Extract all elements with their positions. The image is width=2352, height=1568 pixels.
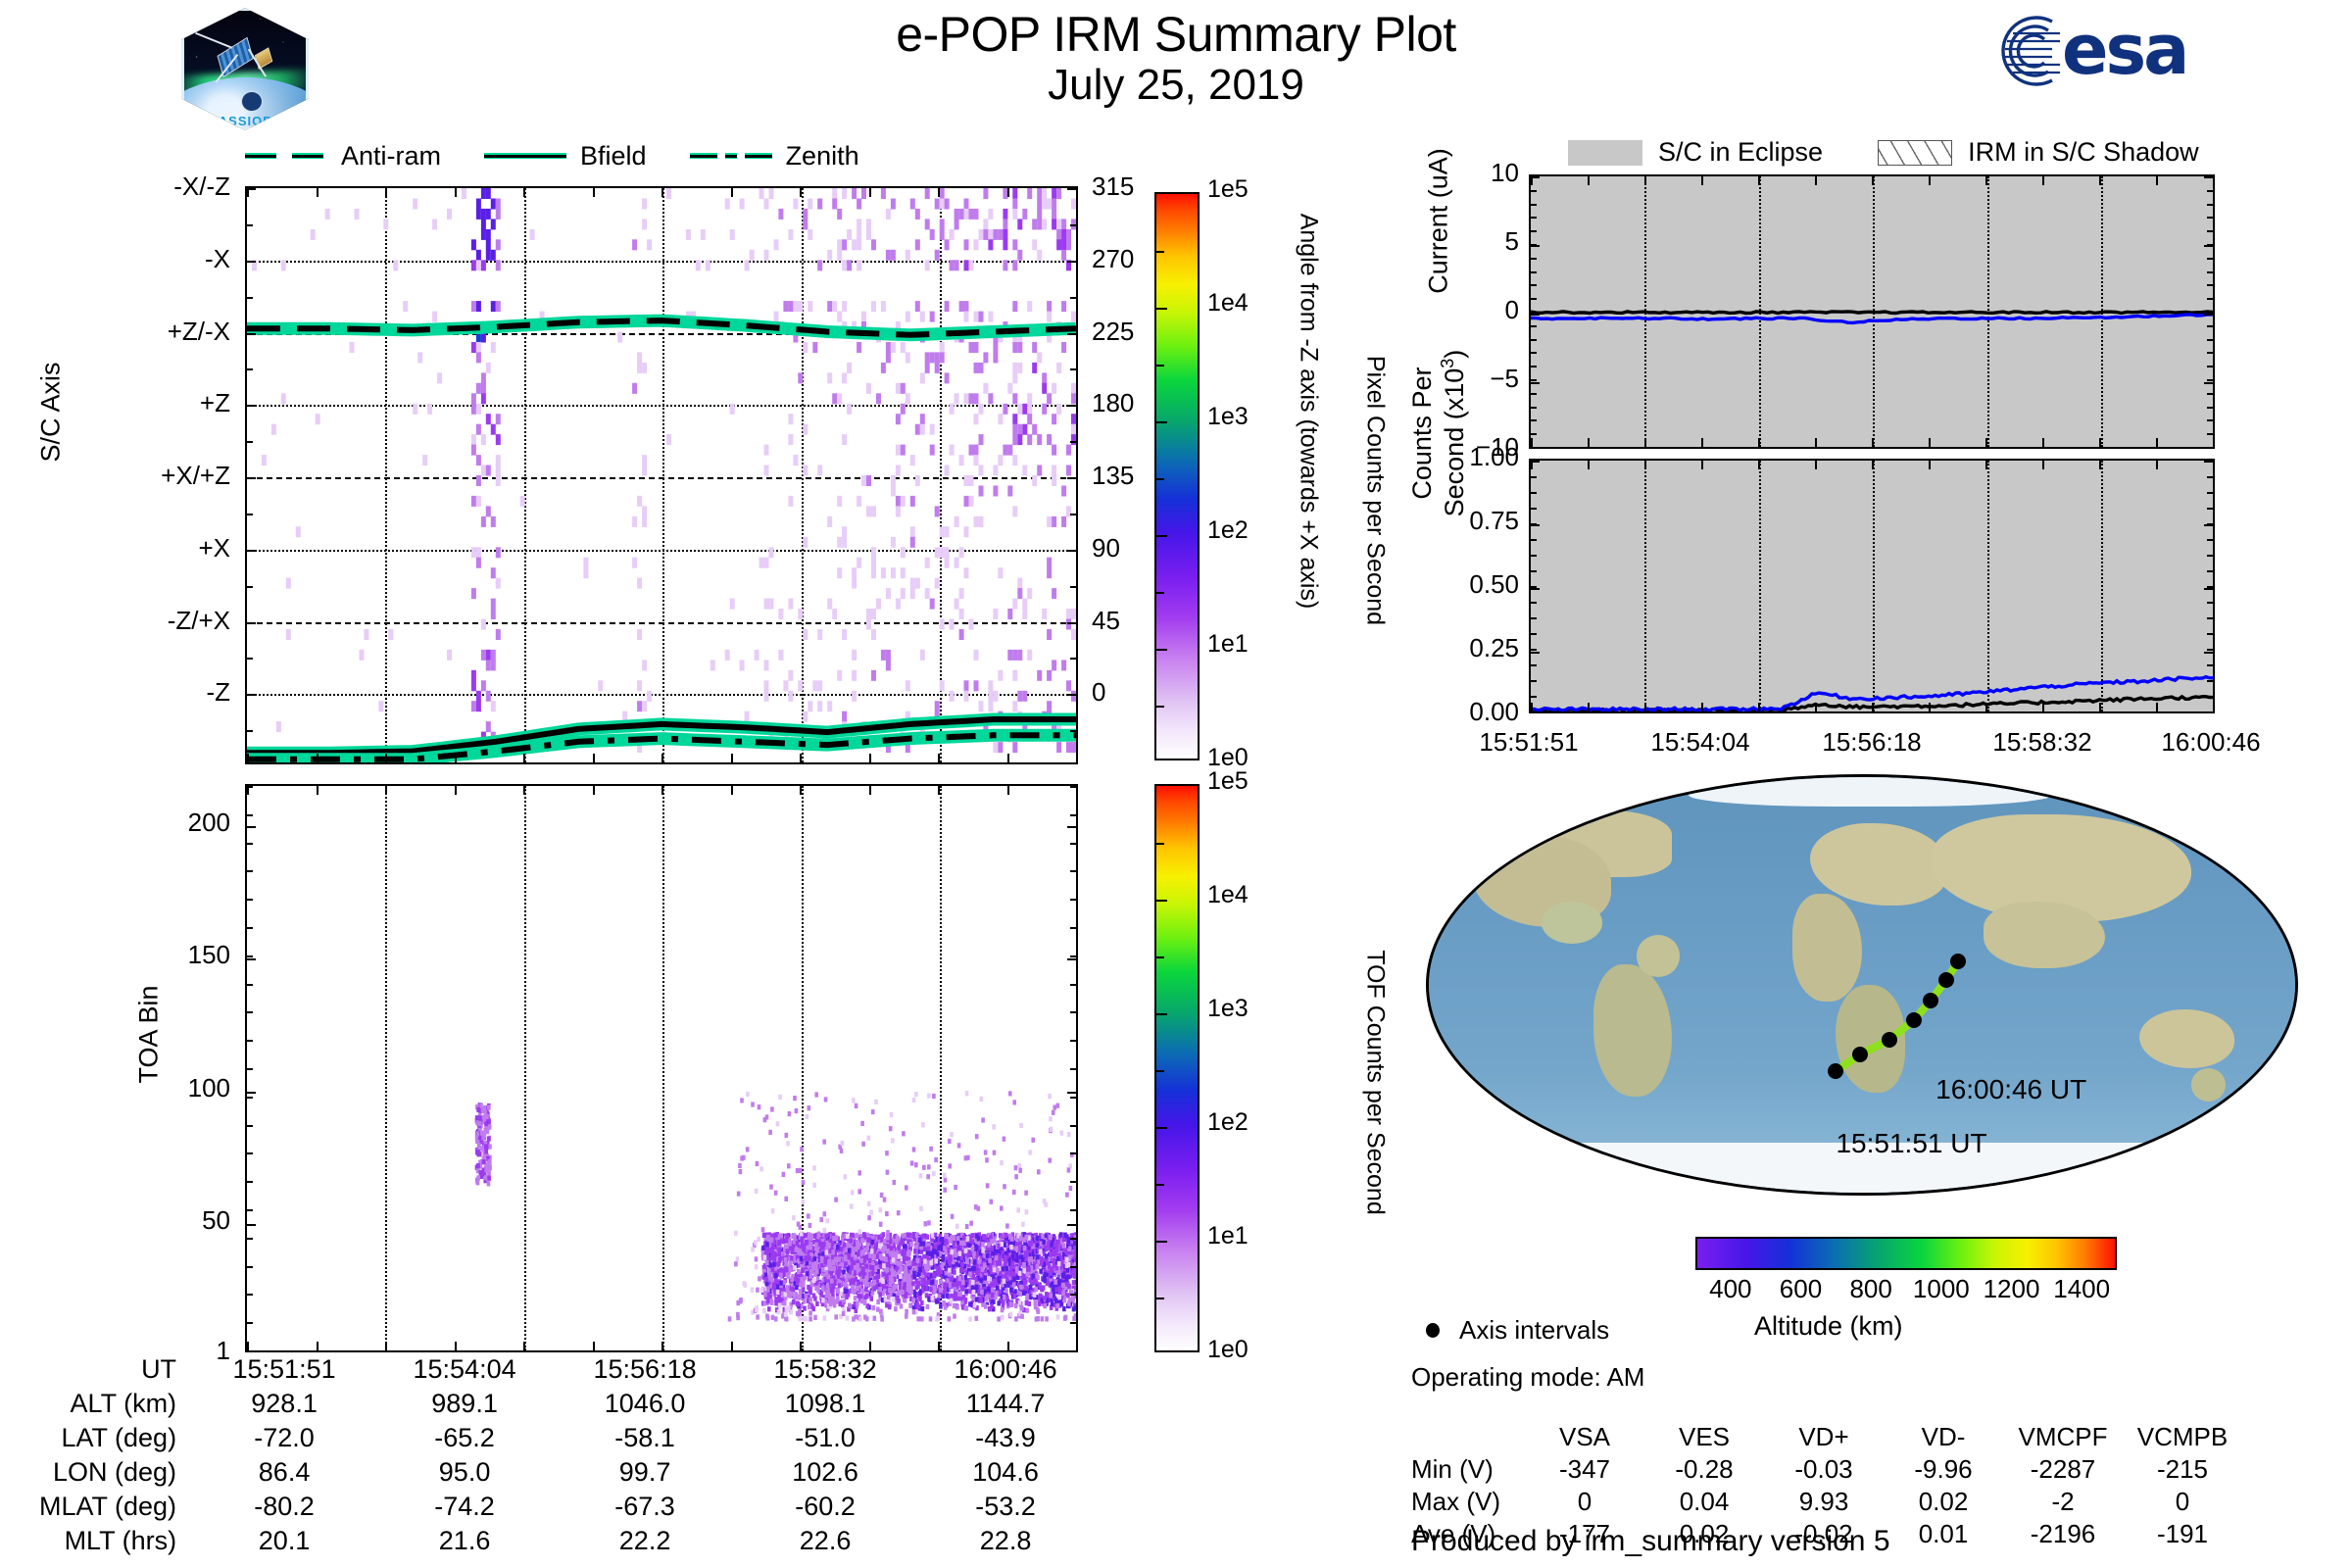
track-dot	[1906, 1012, 1922, 1028]
voltage-col-5: VCMPB	[2123, 1421, 2242, 1453]
toa-spectrogram-panel: TOA Bin 150100150200 1e01e11e21e31e41e5 …	[0, 0, 1372, 1568]
produced-by: Produced by irm_summary version 5	[1411, 1525, 1890, 1558]
ephemeris-cell-2-4: -43.9	[915, 1421, 1096, 1455]
ephemeris-table: UT15:51:5115:54:0415:56:1815:58:3216:00:…	[39, 1352, 1096, 1558]
ephemeris-cell-1-4: 1144.7	[915, 1387, 1096, 1421]
voltage-row-header-0: Min (V)	[1411, 1453, 1525, 1486]
ephemeris-row-header: MLAT (deg)	[39, 1490, 194, 1524]
voltage-cell-0-2: -0.03	[1764, 1453, 1884, 1486]
toa-ytick-4: 200	[127, 808, 230, 838]
track-dot	[1938, 972, 1954, 988]
voltage-cell-0-1: -0.28	[1644, 1453, 1764, 1486]
counts-ytick-4: 1.00	[1382, 442, 1519, 472]
counts-ytick-3: 0.75	[1382, 506, 1519, 536]
ephemeris-cell-4-2: -67.3	[555, 1490, 735, 1524]
tof-cbar-tick-5: 1e5	[1207, 767, 1249, 796]
ephemeris-cell-3-0: 86.4	[194, 1455, 374, 1490]
counts-xtick-0: 15:51:51	[1441, 727, 1617, 758]
track-label-end: 16:00:46 UT	[1935, 1074, 2086, 1105]
ephemeris-cell-1-3: 1098.1	[735, 1387, 915, 1421]
tof-cbar-tick-0: 1e0	[1207, 1336, 1249, 1364]
track-dot	[1950, 954, 1966, 969]
ephemeris-cell-0-4: 16:00:46	[915, 1352, 1096, 1387]
voltage-cell-2-3: 0.01	[1884, 1518, 2003, 1550]
counts-ytick-1: 0.25	[1382, 633, 1519, 663]
voltage-cell-0-3: -9.96	[1884, 1453, 2003, 1486]
track-dot	[1828, 1063, 1843, 1079]
ephemeris-cell-2-2: -58.1	[555, 1421, 735, 1455]
voltage-col-2: VD+	[1764, 1421, 1884, 1453]
counts-xtick-1: 15:54:04	[1612, 727, 1788, 758]
ephemeris-cell-0-2: 15:56:18	[555, 1352, 735, 1387]
altitude-tick-5: 1400	[2037, 1274, 2126, 1304]
voltage-col-4: VMCPF	[2003, 1421, 2123, 1453]
toa-spectrogram-plot[interactable]	[245, 784, 1078, 1352]
ephemeris-cell-3-4: 104.6	[915, 1455, 1096, 1490]
ephemeris-row-header: MLT (hrs)	[39, 1524, 194, 1558]
toa-ytick-1: 50	[127, 1205, 230, 1236]
voltage-header-row: VSAVESVD+VD-VMCPFVCMPB	[1411, 1421, 2242, 1453]
globe: 16:00:46 UT 15:51:51 UT	[1426, 774, 2298, 1196]
voltage-cell-1-2: 9.93	[1764, 1486, 1884, 1518]
counts-xtick-2: 15:56:18	[1784, 727, 1960, 758]
counts-traces	[1531, 461, 2213, 711]
ephemeris-cell-4-4: -53.2	[915, 1490, 1096, 1524]
voltage-col-0: VSA	[1525, 1421, 1644, 1453]
voltage-col-1: VES	[1644, 1421, 1764, 1453]
dot-icon	[1426, 1323, 1440, 1338]
ephemeris-cell-0-1: 15:54:04	[374, 1352, 555, 1387]
voltage-cell-1-0: 0	[1525, 1486, 1644, 1518]
ephemeris-cell-5-1: 21.6	[374, 1524, 555, 1558]
toa-spectrogram-data	[247, 786, 1076, 1350]
voltage-cell-0-5: -215	[2123, 1453, 2242, 1486]
voltage-col-3: VD-	[1884, 1421, 2003, 1453]
voltage-cell-1-3: 0.02	[1884, 1486, 2003, 1518]
ephemeris-cell-4-0: -80.2	[194, 1490, 374, 1524]
voltage-row: Max (V)00.049.930.02-20	[1411, 1486, 2242, 1518]
track-dot	[1852, 1047, 1868, 1062]
tof-cbar-tick-2: 1e2	[1207, 1108, 1249, 1137]
track-label-start: 15:51:51 UT	[1836, 1128, 1986, 1159]
ephemeris-cell-5-3: 22.6	[735, 1524, 915, 1558]
altitude-colorbar-title: Altitude (km)	[1754, 1311, 1903, 1342]
ephemeris-cell-3-3: 102.6	[735, 1455, 915, 1490]
axis-intervals-legend: Axis intervals	[1426, 1315, 1609, 1346]
tof-colorbar-title: TOF Counts per Second	[1361, 872, 1390, 1294]
altitude-colorbar[interactable]	[1695, 1237, 2117, 1270]
voltage-corner	[1411, 1421, 1525, 1453]
counts-right-label-blue: Detect Counter	[2349, 465, 2352, 719]
counts-ytick-2: 0.50	[1382, 569, 1519, 600]
voltage-row-header-1: Max (V)	[1411, 1486, 1525, 1518]
ephemeris-cell-2-1: -65.2	[374, 1421, 555, 1455]
ephemeris-row-header: LAT (deg)	[39, 1421, 194, 1455]
counts-plot[interactable]	[1529, 459, 2215, 713]
ephemeris-cell-4-3: -60.2	[735, 1490, 915, 1524]
ephemeris-cell-5-0: 20.1	[194, 1524, 374, 1558]
toa-ytick-2: 100	[127, 1073, 230, 1103]
voltage-cell-2-4: -2196	[2003, 1518, 2123, 1550]
counts-xtick-4: 16:00:46	[2123, 727, 2299, 758]
ephemeris-cell-1-2: 1046.0	[555, 1387, 735, 1421]
voltage-cell-1-4: -2	[2003, 1486, 2123, 1518]
tof-colorbar[interactable]	[1154, 784, 1200, 1352]
ephemeris-cell-1-1: 989.1	[374, 1387, 555, 1421]
ephemeris-row-header: LON (deg)	[39, 1455, 194, 1490]
ephemeris-cell-3-1: 95.0	[374, 1455, 555, 1490]
counts-ytick-0: 0.00	[1382, 697, 1519, 727]
counts-ylabel: Counts PerSecond (x103)	[1407, 286, 1470, 580]
ephemeris-row: ALT (km)928.1989.11046.01098.11144.7	[39, 1387, 1096, 1421]
counts-panel: Counts PerSecond (x103) 0.000.250.500.75…	[1372, 0, 2352, 784]
ephemeris-cell-5-2: 22.2	[555, 1524, 735, 1558]
ephemeris-cell-2-3: -51.0	[735, 1421, 915, 1455]
counts-xtick-3: 15:58:32	[1954, 727, 2131, 758]
toa-ytick-3: 150	[127, 940, 230, 970]
ephemeris-cell-0-3: 15:58:32	[735, 1352, 915, 1387]
voltage-cell-0-4: -2287	[2003, 1453, 2123, 1486]
tof-cbar-tick-1: 1e1	[1207, 1222, 1249, 1250]
ground-track-map[interactable]: 16:00:46 UT 15:51:51 UT	[1426, 774, 2298, 1196]
ephemeris-cell-4-1: -74.2	[374, 1490, 555, 1524]
voltage-cell-1-1: 0.04	[1644, 1486, 1764, 1518]
ephemeris-cell-1-0: 928.1	[194, 1387, 374, 1421]
operating-mode: Operating mode: AM	[1411, 1362, 1644, 1393]
ephemeris-cell-0-0: 15:51:51	[194, 1352, 374, 1387]
track-dot	[1923, 993, 1938, 1008]
ephemeris-row-header: UT	[39, 1352, 194, 1387]
ephemeris-cell-5-4: 22.8	[915, 1524, 1096, 1558]
ephemeris-row: UT15:51:5115:54:0415:56:1815:58:3216:00:…	[39, 1352, 1096, 1387]
tof-cbar-tick-4: 1e4	[1207, 881, 1249, 909]
ephemeris-row: MLT (hrs)20.121.622.222.622.8	[39, 1524, 1096, 1558]
axis-intervals-label: Axis intervals	[1459, 1315, 1609, 1346]
voltage-cell-0-0: -347	[1525, 1453, 1644, 1486]
ephemeris-cell-3-2: 99.7	[555, 1455, 735, 1490]
voltage-cell-1-5: 0	[2123, 1486, 2242, 1518]
ephemeris-row: LAT (deg)-72.0-65.2-58.1-51.0-43.9	[39, 1421, 1096, 1455]
ephemeris-row-header: ALT (km)	[39, 1387, 194, 1421]
voltage-row: Min (V)-347-0.28-0.03-9.96-2287-215	[1411, 1453, 2242, 1486]
tof-cbar-tick-3: 1e3	[1207, 995, 1249, 1023]
ephemeris-row: MLAT (deg)-80.2-74.2-67.3-60.2-53.2	[39, 1490, 1096, 1524]
ephemeris-row: LON (deg)86.495.099.7102.6104.6	[39, 1455, 1096, 1490]
track-dot	[1882, 1032, 1897, 1048]
ephemeris-cell-2-0: -72.0	[194, 1421, 374, 1455]
voltage-cell-2-5: -191	[2123, 1518, 2242, 1550]
